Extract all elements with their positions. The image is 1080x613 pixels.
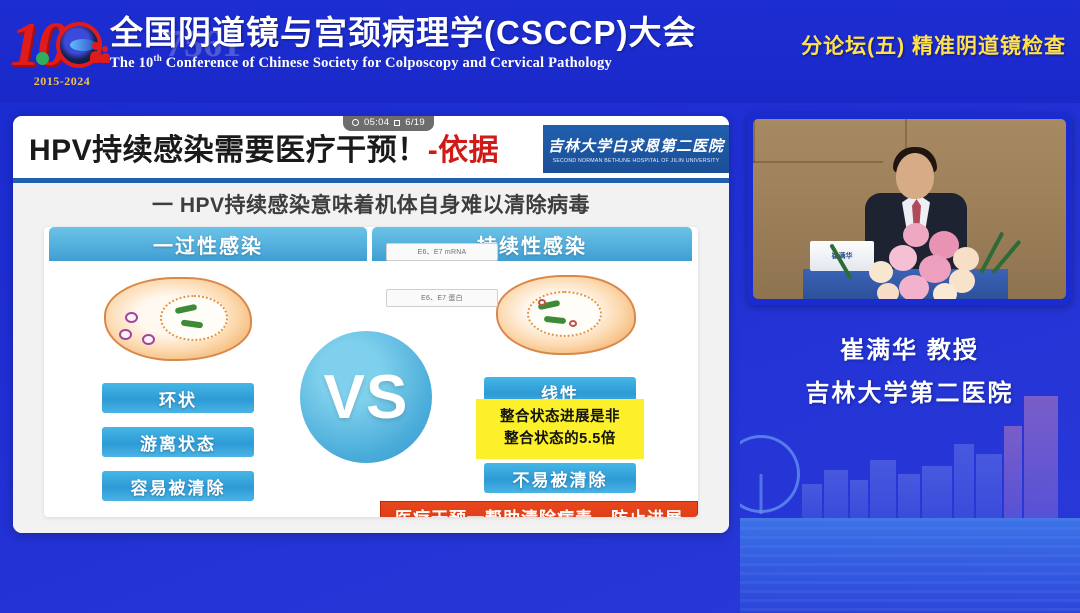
- anniversary-10-logo: 10 2015-2024: [6, 6, 118, 94]
- cell-diagram-episomal: [104, 277, 252, 361]
- slide-body: 一 HPV持续感染意味着机体自身难以清除病毒 一过性感染 持续性感染: [13, 183, 729, 533]
- event-header-bar: 10 2015-2024 7561 全国阴道镜与宫颈病理学(CSCCP)大会 T…: [0, 0, 1080, 103]
- conference-title-block: 全国阴道镜与宫颈病理学(CSCCP)大会 The 10th Conference…: [110, 16, 697, 72]
- conference-title-en-post: Conference of Chinese Society for Colpos…: [162, 55, 612, 71]
- slide-title-accent: -依据: [428, 134, 500, 167]
- speaker-caption: 崔满华 教授 吉林大学第二医院: [747, 330, 1072, 408]
- slide-title-row: 05:04 6/19 HPV持续感染需要医疗干预！-依据 吉林大学白求恩第二医院…: [13, 116, 729, 178]
- right-attribute-box-bottom: 不易被清除: [484, 463, 636, 493]
- speaker-video-pane[interactable]: 崔满华: [747, 113, 1072, 305]
- hospital-logo: 吉林大学白求恩第二医院 SECOND NORMAN BETHUNE HOSPIT…: [543, 125, 729, 173]
- conference-title-en: The 10th Conference of Chinese Society f…: [110, 53, 697, 72]
- comparison-panel: 一过性感染 持续性感染: [44, 227, 698, 517]
- logo-green-dot: [36, 52, 49, 65]
- vs-circle: VS: [300, 331, 432, 463]
- left-attribute-box-2: 游离状态: [102, 427, 254, 457]
- presentation-slide: 05:04 6/19 HPV持续感染需要医疗干预！-依据 吉林大学白求恩第二医院…: [13, 116, 729, 533]
- left-attribute-box-1: 环状: [102, 383, 254, 413]
- conference-title-cn: 全国阴道镜与宫颈病理学(CSCCP)大会: [110, 16, 697, 51]
- logo-people-icon: [90, 42, 112, 66]
- highlight-callout: 整合状态进展是非 整合状态的5.5倍: [476, 399, 644, 459]
- mid-tag-mrna: E6、E7 mRNA: [386, 243, 498, 261]
- column-header-transient: 一过性感染: [49, 227, 367, 261]
- speaker-affiliation: 吉林大学第二医院: [747, 373, 1072, 408]
- slide-title-main: HPV持续感染需要医疗干预！: [29, 134, 428, 167]
- forum-session-tag: 分论坛(五) 精准阴道镜检查: [801, 30, 1066, 60]
- mid-tag-protein: E6、E7 蛋白: [386, 289, 498, 307]
- video-frame: 崔满华: [753, 119, 1066, 299]
- ferris-wheel-icon: [740, 435, 800, 513]
- conference-title-en-pre: The 10: [110, 55, 154, 71]
- cell-diagram-integrated: [496, 275, 636, 355]
- cityscape-watermark: [740, 383, 1080, 613]
- left-attribute-box-3: 容易被清除: [102, 471, 254, 501]
- conclusion-banner: 医疗干预一帮助清除病毒、防止进展: [380, 501, 698, 517]
- hospital-name-cn: 吉林大学白求恩第二医院: [548, 135, 724, 156]
- speaker-name: 崔满华 教授: [747, 330, 1072, 365]
- broadcast-screen: 10 2015-2024 7561 全国阴道镜与宫颈病理学(CSCCP)大会 T…: [0, 0, 1080, 613]
- speaker-head: [896, 153, 934, 199]
- hospital-name-en: SECOND NORMAN BETHUNE HOSPITAL OF JILIN …: [553, 158, 720, 164]
- highlight-line-1: 整合状态进展是非: [500, 407, 620, 429]
- slide-title: HPV持续感染需要医疗干预！-依据: [29, 125, 499, 169]
- highlight-line-2: 整合状态的5.5倍: [504, 429, 616, 451]
- conference-title-en-sup: th: [154, 53, 162, 63]
- logo-years-text: 2015-2024: [8, 74, 116, 89]
- slide-subtitle: 一 HPV持续感染意味着机体自身难以清除病毒: [13, 189, 729, 219]
